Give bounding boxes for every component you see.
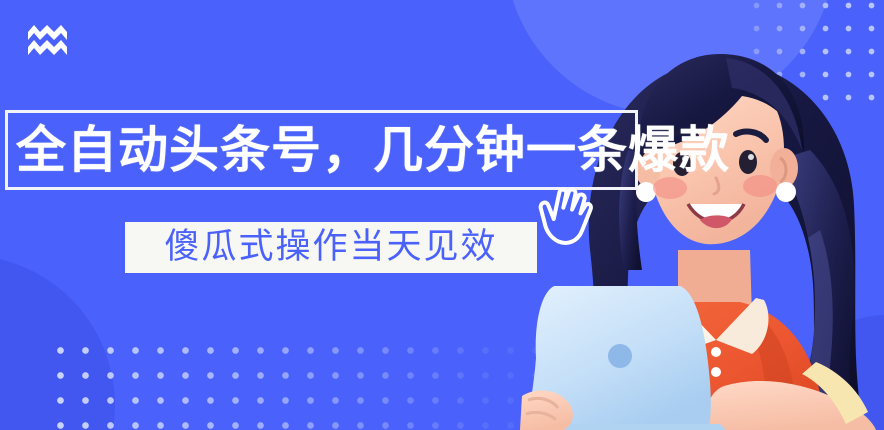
earring-left (636, 182, 656, 202)
eye-right (739, 150, 757, 174)
subtitle-text: 傻瓜式操作当天见效 (164, 230, 497, 265)
pointing-hand-cursor-icon (534, 180, 594, 248)
blush-right (743, 175, 777, 197)
wave-zigzag-icon (27, 24, 69, 58)
shirt-button-2 (711, 367, 721, 377)
shirt-button-1 (711, 347, 721, 357)
eye-right-glint (748, 154, 754, 160)
page-title: 全自动头条号，几分钟一条爆款 (8, 125, 730, 175)
headline-box: 全自动头条号，几分钟一条爆款 (5, 110, 638, 190)
subtitle-band: 傻瓜式操作当天见效 (125, 222, 537, 273)
blush-left (653, 177, 687, 199)
laptop-logo (608, 344, 632, 368)
promo-banner: 全自动头条号，几分钟一条爆款 傻瓜式操作当天见效 (0, 0, 884, 430)
earring-right (776, 182, 796, 202)
